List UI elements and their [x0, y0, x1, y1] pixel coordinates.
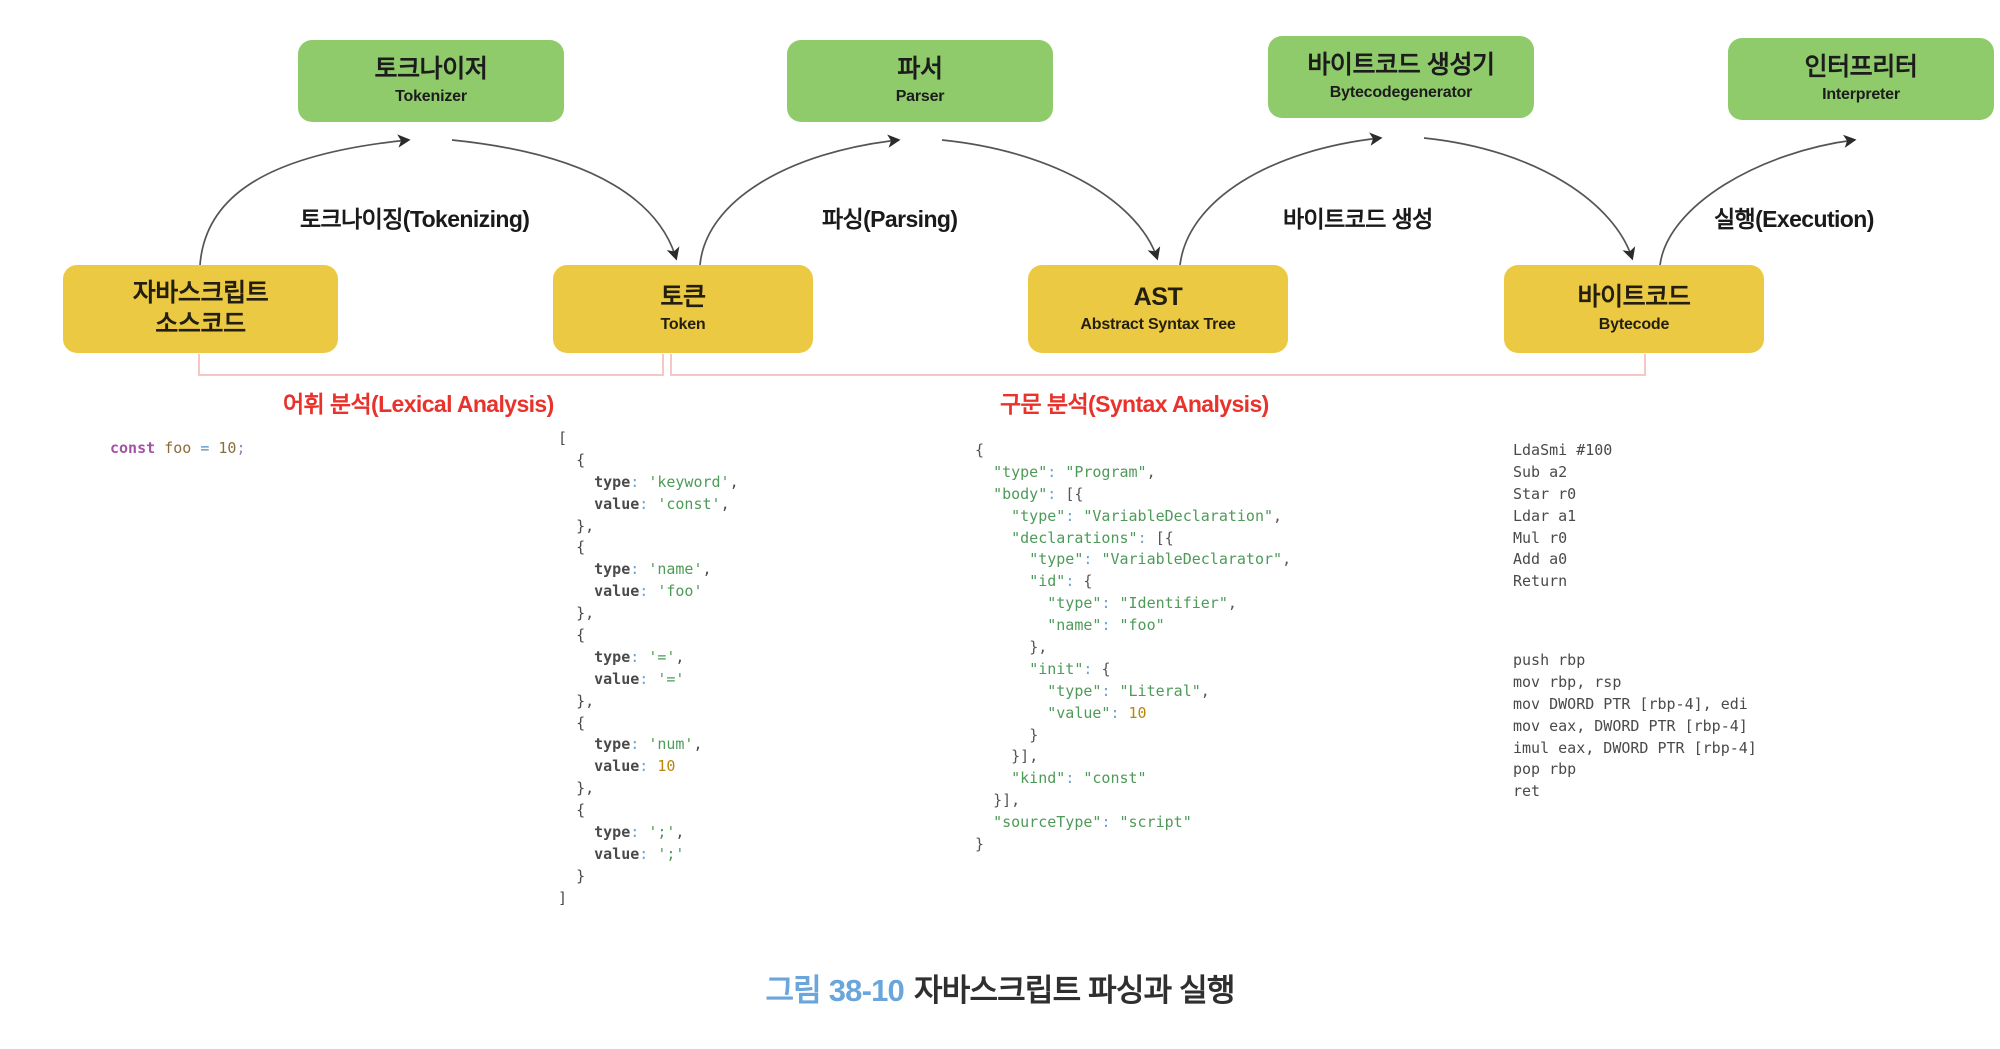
stage-label-ko: 토크나이저	[374, 55, 487, 84]
stage-label-en: Parser	[896, 88, 945, 106]
artifact-box-ast[interactable]: AST Abstract Syntax Tree	[1028, 265, 1288, 353]
source-operator: =	[200, 439, 209, 457]
artifact-box-bytecode[interactable]: 바이트코드 Bytecode	[1504, 265, 1764, 353]
arrow-tokenizer-to-token	[452, 140, 676, 258]
code-block-assembly: push rbp mov rbp, rsp mov DWORD PTR [rbp…	[1513, 650, 1757, 803]
source-terminator: ;	[236, 439, 245, 457]
artifact-label-en: Bytecode	[1599, 316, 1669, 334]
figure-caption: 그림 38-10자바스크립트 파싱과 실행	[0, 965, 2000, 1010]
edge-label-execution: 실행(Execution)	[1714, 200, 1874, 234]
edge-label-tokenizing: 토크나이징(Tokenizing)	[300, 200, 529, 234]
diagram-canvas: 토크나이저 Tokenizer 파서 Parser 바이트코드 생성기 Byte…	[0, 0, 2000, 1049]
phase-label-lexical-analysis: 어휘 분석(Lexical Analysis)	[283, 385, 554, 419]
edge-label-parsing: 파싱(Parsing)	[822, 200, 957, 234]
code-block-bytecode: LdaSmi #100 Sub a2 Star r0 Ldar a1 Mul r…	[1513, 440, 1612, 593]
phase-label-syntax-analysis: 구문 분석(Syntax Analysis)	[1000, 385, 1269, 419]
arrow-parser-to-ast	[942, 140, 1157, 258]
stage-box-interpreter[interactable]: 인터프리터 Interpreter	[1728, 38, 1994, 120]
stage-label-ko: 인터프리터	[1804, 53, 1917, 82]
stage-box-parser[interactable]: 파서 Parser	[787, 40, 1053, 122]
source-number: 10	[218, 439, 236, 457]
edge-label-bytecode-generation: 바이트코드 생성	[1283, 200, 1433, 234]
source-keyword: const	[110, 439, 155, 457]
artifact-label-ko: AST	[1134, 283, 1183, 312]
artifact-label-ko-line1: 자바스크립트	[133, 279, 269, 308]
code-block-tokens: [ { type: 'keyword', value: 'const', }, …	[558, 428, 739, 910]
bracket-syntax-analysis	[670, 354, 1646, 376]
artifact-label-en: Token	[661, 316, 706, 334]
stage-label-ko: 파서	[897, 55, 942, 84]
stage-box-bytecode-generator[interactable]: 바이트코드 생성기 Bytecodegenerator	[1268, 36, 1534, 118]
arrow-bytecode-generator-to-bytecode	[1424, 138, 1632, 258]
source-identifier: foo	[164, 439, 191, 457]
artifact-box-token[interactable]: 토큰 Token	[553, 265, 813, 353]
code-block-ast: { "type": "Program", "body": [{ "type": …	[975, 440, 1291, 856]
artifact-label-en: Abstract Syntax Tree	[1080, 316, 1235, 334]
artifact-label-ko: 바이트코드	[1577, 283, 1690, 312]
artifact-box-javascript-source[interactable]: 자바스크립트 소스코드	[63, 265, 338, 353]
artifact-label-ko: 토큰	[660, 283, 705, 312]
bracket-lexical-analysis	[198, 354, 664, 376]
stage-label-en: Bytecodegenerator	[1330, 84, 1472, 102]
stage-box-tokenizer[interactable]: 토크나이저 Tokenizer	[298, 40, 564, 122]
figure-number: 그림 38-10	[765, 973, 904, 1008]
artifact-label-ko-line2: 소스코드	[155, 310, 245, 339]
figure-caption-text: 자바스크립트 파싱과 실행	[914, 973, 1235, 1008]
stage-label-ko: 바이트코드 생성기	[1307, 51, 1494, 80]
stage-label-en: Tokenizer	[395, 88, 467, 106]
stage-label-en: Interpreter	[1822, 86, 1900, 104]
code-block-source: const foo = 10;	[110, 438, 245, 460]
